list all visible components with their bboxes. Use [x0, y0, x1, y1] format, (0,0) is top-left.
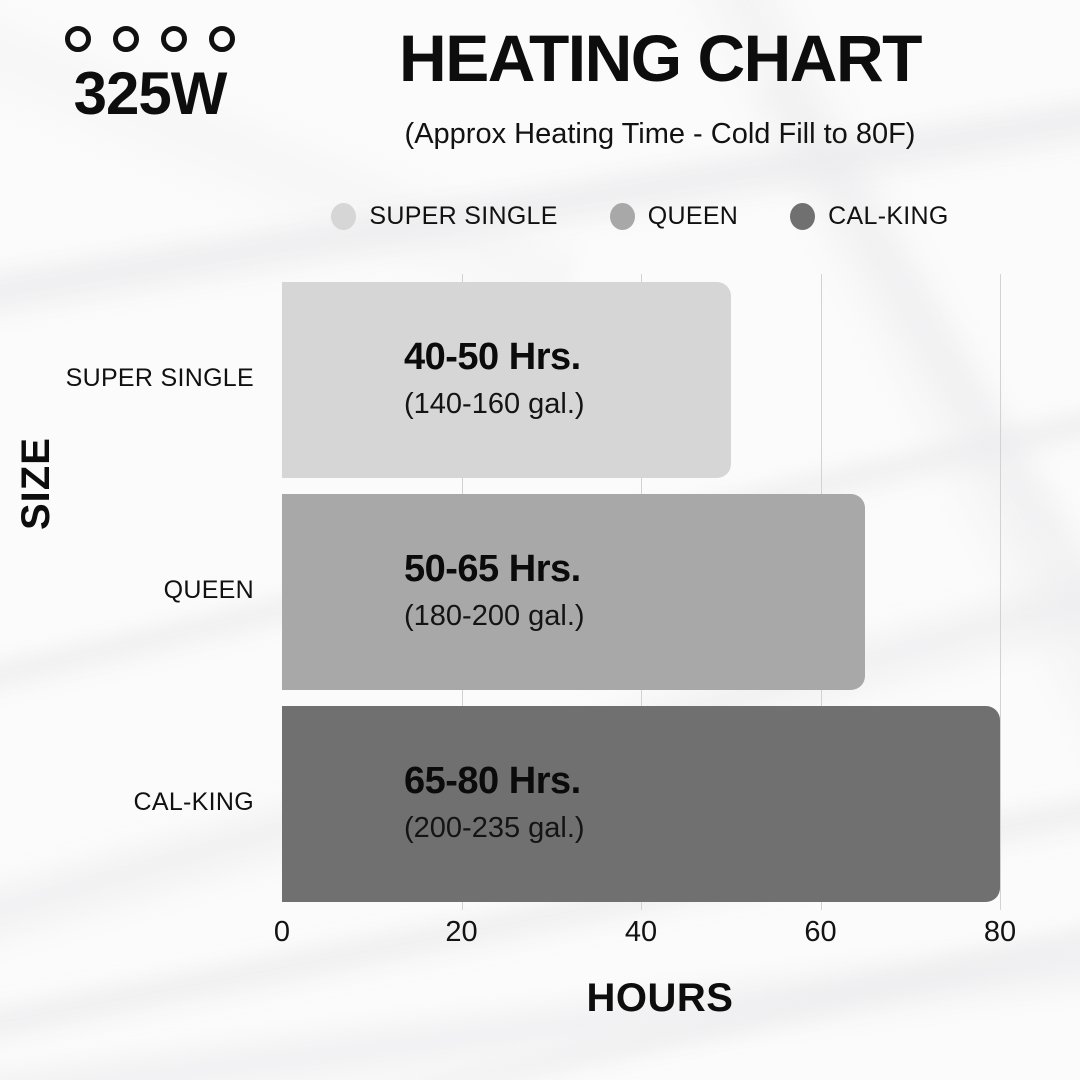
x-tick-label: 20: [422, 916, 502, 949]
y-axis-label-queen: QUEEN: [0, 576, 254, 605]
y-axis-category-labels: SUPER SINGLEQUEENCAL-KING: [0, 274, 272, 910]
circle-outline-icon: [65, 26, 91, 52]
y-axis-label-super-single: SUPER SINGLE: [0, 364, 254, 393]
legend-item[interactable]: QUEEN: [610, 202, 738, 231]
burner-rings: [40, 26, 260, 52]
x-tick-label: 80: [960, 916, 1040, 949]
legend-swatch-icon: [331, 203, 356, 230]
page-subtitle: (Approx Heating Time - Cold Fill to 80F): [300, 118, 1020, 151]
x-tick-label: 0: [242, 916, 322, 949]
x-tick-label: 60: [781, 916, 861, 949]
x-axis-title: HOURS: [280, 976, 1040, 1021]
wattage-value: 325W: [40, 64, 260, 124]
bar-cal-king[interactable]: 65-80 Hrs.(200-235 gal.): [282, 706, 1000, 902]
legend-swatch-icon: [790, 203, 815, 230]
bar-hours-label: 65-80 Hrs.: [404, 760, 581, 804]
page-title: HEATING CHART: [300, 24, 1020, 93]
gridline: [1000, 274, 1001, 910]
bar-gallons-label: (140-160 gal.): [404, 386, 585, 424]
bar-gallons-label: (180-200 gal.): [404, 598, 585, 636]
wattage-badge: 325W: [40, 26, 260, 124]
bar-queen[interactable]: 50-65 Hrs.(180-200 gal.): [282, 494, 865, 690]
bar-hours-label: 40-50 Hrs.: [404, 336, 581, 380]
bar-hours-label: 50-65 Hrs.: [404, 548, 581, 592]
legend-label: CAL-KING: [828, 202, 948, 231]
legend-label: SUPER SINGLE: [369, 202, 557, 231]
legend-label: QUEEN: [648, 202, 738, 231]
plot-area: 40-50 Hrs.(140-160 gal.)50-65 Hrs.(180-2…: [282, 274, 1000, 910]
circle-outline-icon: [209, 26, 235, 52]
x-tick-label: 40: [601, 916, 681, 949]
bar-super-single[interactable]: 40-50 Hrs.(140-160 gal.): [282, 282, 731, 478]
circle-outline-icon: [113, 26, 139, 52]
chart-legend: SUPER SINGLEQUEENCAL-KING: [280, 202, 1000, 231]
y-axis-label-cal-king: CAL-KING: [0, 788, 254, 817]
legend-item[interactable]: SUPER SINGLE: [331, 202, 557, 231]
heating-chart-infographic: 325W HEATING CHART (Approx Heating Time …: [0, 0, 1080, 1080]
legend-swatch-icon: [610, 203, 635, 230]
bar-gallons-label: (200-235 gal.): [404, 810, 585, 848]
legend-item[interactable]: CAL-KING: [790, 202, 948, 231]
circle-outline-icon: [161, 26, 187, 52]
